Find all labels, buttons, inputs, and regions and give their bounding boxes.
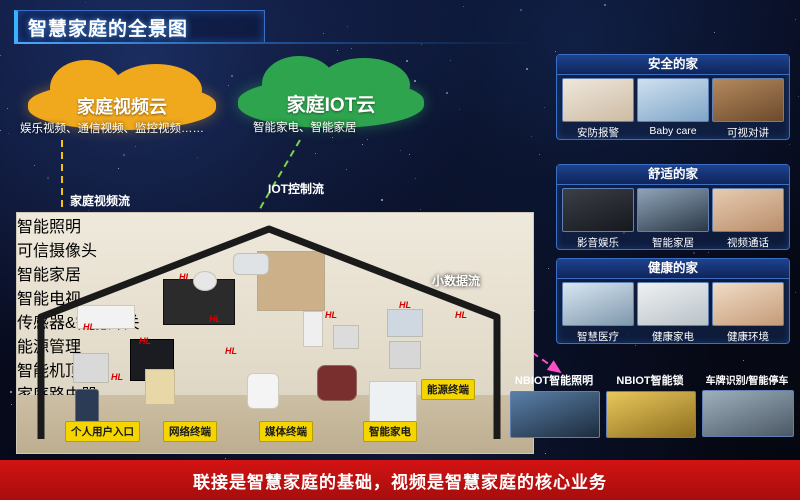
nbiot-smart-lighting-image <box>510 391 600 438</box>
page-title: 智慧家庭的全景图 <box>18 14 188 41</box>
thumb-smart-home[interactable]: 智能家居 <box>638 188 708 250</box>
smart-healthcare-image <box>562 282 634 326</box>
card-safe-home-title: 安全的家 <box>557 55 789 75</box>
nbiot-caption: NBIOT智能照明 <box>510 372 598 388</box>
tag-energy-terminal: 能源终端 <box>421 379 475 400</box>
thumb-caption: Baby care <box>649 125 696 137</box>
thumb-caption: 影音娱乐 <box>577 235 619 250</box>
thumb-health-environment[interactable]: 健康环境 <box>713 282 783 344</box>
thumb-av-entertainment[interactable]: 影音娱乐 <box>563 188 633 250</box>
nbiot-plate-recognition[interactable]: 车牌识别/智能停车 <box>702 372 792 437</box>
nbiot-smart-lock[interactable]: NBIOT智能锁 <box>606 372 694 438</box>
brand-logo-icon: HL <box>177 271 193 283</box>
video-intercom-image <box>712 78 784 122</box>
thumb-video-call[interactable]: 视频通话 <box>713 188 783 250</box>
home-scene-photo: HL HL HL HL HL HL HL HL HL 智能照明 可信摄像头 智能… <box>17 213 533 453</box>
security-alarm-image <box>562 78 634 122</box>
card-safe-home: 安全的家 安防报警 Baby care 可视对讲 <box>556 54 790 140</box>
nbiot-smart-lock-image <box>606 391 696 438</box>
house-outline <box>35 221 503 445</box>
thumb-caption: 智慧医疗 <box>577 329 619 344</box>
nbiot-plate-recognition-image <box>702 390 794 437</box>
nbiot-caption: 车牌识别/智能停车 <box>702 372 792 387</box>
brand-logo-icon: HL <box>207 313 223 325</box>
thumb-caption: 健康环境 <box>727 329 769 344</box>
footer-banner: 联接是智慧家庭的基础，视频是智慧家庭的核心业务 <box>0 460 800 500</box>
tag-media-terminal: 媒体终端 <box>259 421 313 442</box>
cloud-home-video-subtitle: 娱乐视频、通信视频、监控视频…… <box>20 120 204 136</box>
page-title-bar: 智慧家庭的全景图 <box>14 10 265 44</box>
tag-network-terminal: 网络终端 <box>163 421 217 442</box>
cloud-home-iot-title: 家庭IOT云 <box>287 90 376 117</box>
card-comfort-home: 舒适的家 影音娱乐 智能家居 视频通话 <box>556 164 790 250</box>
card-safe-home-thumbs: 安防报警 Baby care 可视对讲 <box>563 78 783 140</box>
thumb-caption: 智能家居 <box>652 235 694 250</box>
card-healthy-home: 健康的家 智慧医疗 健康家电 健康环境 <box>556 258 790 344</box>
home-scene-panel: HL HL HL HL HL HL HL HL HL 智能照明 可信摄像头 智能… <box>16 212 534 454</box>
card-healthy-home-title: 健康的家 <box>557 259 789 279</box>
flow-label-video-stream: 家庭视频流 <box>70 192 130 209</box>
health-appliance-image <box>637 282 709 326</box>
brand-logo-icon: HL <box>453 309 469 321</box>
footer-text: 联接是智慧家庭的基础，视频是智慧家庭的核心业务 <box>193 468 607 493</box>
thumb-caption: 安防报警 <box>577 125 619 140</box>
thumb-caption: 健康家电 <box>652 329 694 344</box>
brand-logo-icon: HL <box>323 309 339 321</box>
baby-care-image <box>637 78 709 122</box>
card-healthy-home-thumbs: 智慧医疗 健康家电 健康环境 <box>563 282 783 344</box>
brand-logo-icon: HL <box>397 299 413 311</box>
title-underline <box>14 42 534 44</box>
thumb-caption: 可视对讲 <box>727 125 769 140</box>
slide-canvas: 智慧家庭的全景图 家庭视频云 娱乐视频、通信视频、监控视频…… 家庭IOT云 智… <box>0 0 800 500</box>
brand-logo-icon: HL <box>137 335 153 347</box>
video-call-image <box>712 188 784 232</box>
thumb-caption: 视频通话 <box>727 235 769 250</box>
flow-label-iot-control: IOT控制流 <box>268 180 324 197</box>
device-label-home-gateway-1: 家庭 <box>17 453 533 454</box>
thumb-health-appliance[interactable]: 健康家电 <box>638 282 708 344</box>
smart-home-image <box>637 188 709 232</box>
card-comfort-home-title: 舒适的家 <box>557 165 789 185</box>
thumb-smart-healthcare[interactable]: 智慧医疗 <box>563 282 633 344</box>
tag-personal-user-entry: 个人用户入口 <box>65 421 140 442</box>
cloud-home-video-title: 家庭视频云 <box>77 93 167 119</box>
cloud-home-iot-subtitle: 智能家电、智能家居 <box>253 119 357 135</box>
thumb-baby-care[interactable]: Baby care <box>638 78 708 140</box>
tag-smart-appliance: 智能家电 <box>363 421 417 442</box>
brand-logo-icon: HL <box>223 345 239 357</box>
thumb-security-alarm[interactable]: 安防报警 <box>563 78 633 140</box>
thumb-video-intercom[interactable]: 可视对讲 <box>713 78 783 140</box>
health-environment-image <box>712 282 784 326</box>
nbiot-smart-lighting[interactable]: NBIOT智能照明 <box>510 372 598 438</box>
av-entertainment-image <box>562 188 634 232</box>
nbiot-caption: NBIOT智能锁 <box>606 372 694 388</box>
brand-logo-icon: HL <box>109 371 125 383</box>
card-comfort-home-thumbs: 影音娱乐 智能家居 视频通话 <box>563 188 783 250</box>
flow-label-small-data: 小数据流 <box>432 272 480 289</box>
brand-logo-icon: HL <box>81 321 97 333</box>
